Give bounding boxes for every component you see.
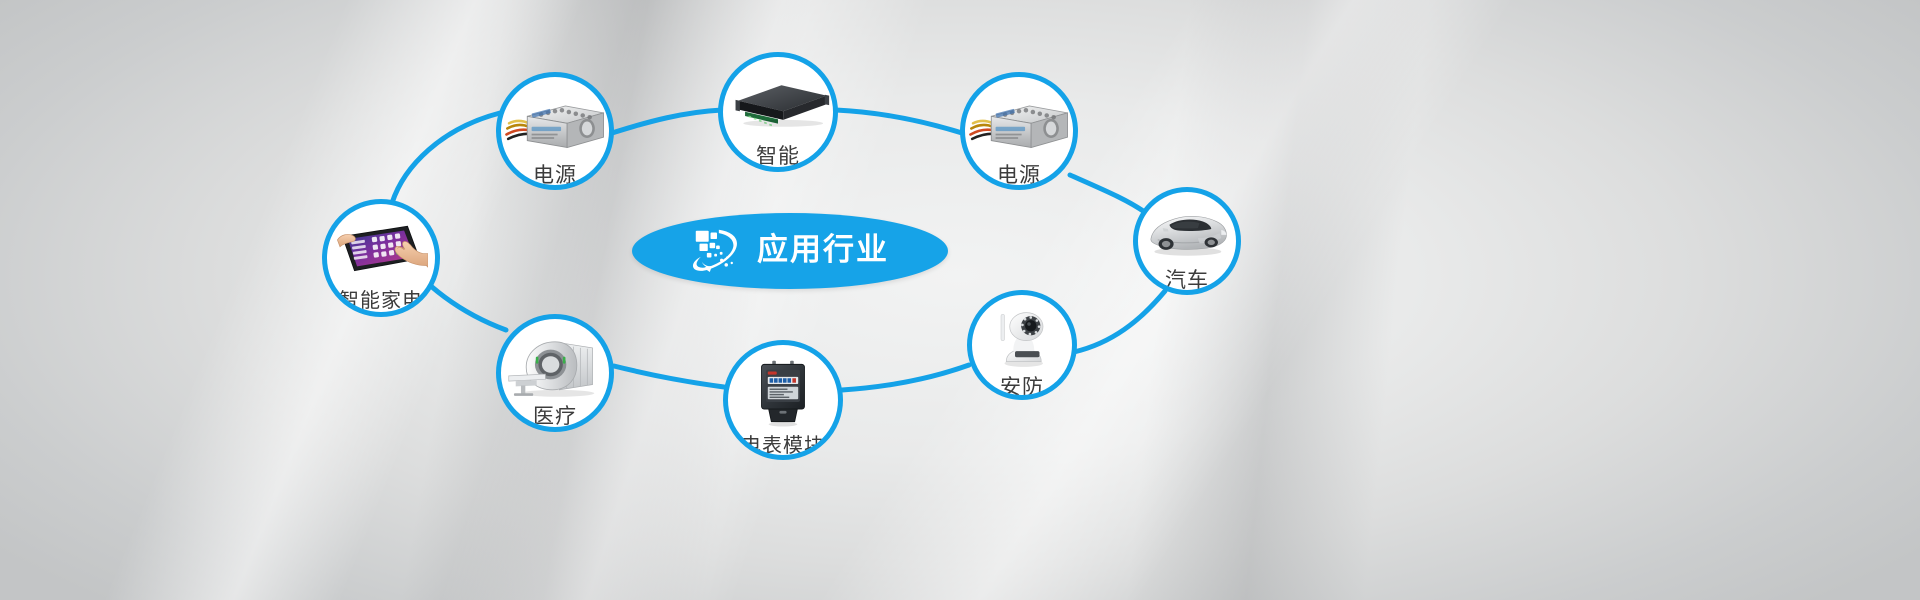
ip-camera-icon — [972, 307, 1072, 369]
node-smart-home[interactable]: 智能家电 — [322, 199, 440, 317]
sports-car-icon — [1138, 206, 1236, 262]
node-smart[interactable]: 智能 — [718, 52, 838, 172]
node-label: 医疗 — [533, 406, 577, 427]
node-label: 安防 — [1000, 377, 1044, 398]
power-supply-icon — [501, 91, 609, 159]
node-power-right[interactable]: 电源 — [960, 72, 1078, 190]
power-supply-icon — [965, 91, 1073, 159]
link-power-left-to-smart — [612, 110, 722, 133]
node-security[interactable]: 安防 — [967, 290, 1077, 400]
node-label: 汽车 — [1165, 270, 1209, 291]
pixel-swoosh-logo-icon — [691, 227, 743, 275]
link-meter-to-medical — [614, 366, 724, 387]
node-medical[interactable]: 医疗 — [496, 314, 614, 432]
electric-meter-icon — [728, 359, 838, 427]
link-home-to-power-left — [392, 113, 500, 203]
link-auto-to-security — [1074, 291, 1165, 352]
link-security-to-meter — [842, 365, 969, 390]
ct-scanner-icon — [501, 335, 609, 400]
application-industries-banner: 应用行业 — [0, 0, 1920, 600]
node-label: 电源 — [533, 165, 577, 186]
node-label: 电源 — [997, 165, 1041, 186]
link-smart-to-power-right — [836, 110, 962, 133]
connector-ring — [0, 0, 1920, 600]
node-meter[interactable]: 电表模块 — [723, 340, 843, 460]
node-label: 智能家电 — [339, 290, 423, 310]
node-automotive[interactable]: 汽车 — [1133, 187, 1241, 295]
node-label: 智能 — [756, 146, 800, 167]
tablet-touch-icon — [327, 218, 435, 284]
link-power-right-to-auto — [1070, 175, 1146, 213]
center-badge: 应用行业 — [632, 213, 948, 289]
center-badge-label: 应用行业 — [757, 235, 889, 268]
node-power-left[interactable]: 电源 — [496, 72, 614, 190]
node-label: 电表模块 — [741, 435, 825, 455]
rack-server-icon — [723, 75, 833, 136]
